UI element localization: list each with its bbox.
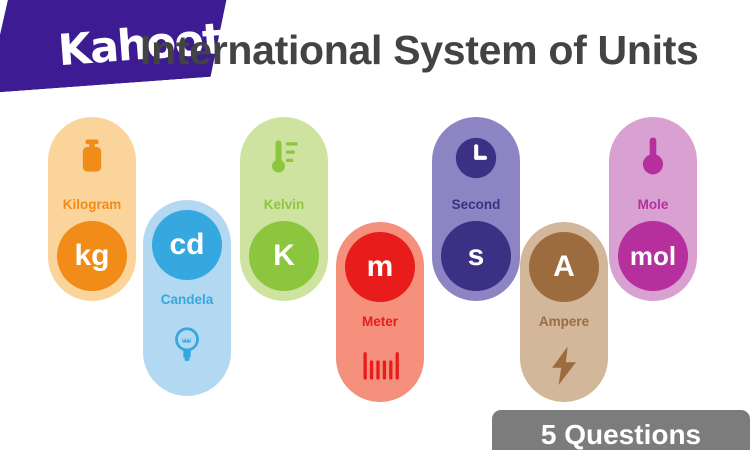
slide-canvas: Kahoot! International System of Units Ki… — [0, 0, 750, 450]
unit-symbol-disc: cd — [152, 210, 222, 280]
unit-capsule-second[interactable]: sSecond — [432, 117, 520, 301]
unit-name-label: Kilogram — [48, 197, 136, 213]
unit-name-label: Ampere — [520, 314, 608, 330]
unit-name-label: Candela — [143, 292, 231, 308]
unit-capsule-kilogram[interactable]: Kilogramkg — [48, 117, 136, 301]
unit-name-label: Kelvin — [240, 197, 328, 213]
page-title: International System of Units — [140, 24, 740, 76]
unit-symbol-disc: kg — [57, 221, 127, 291]
unit-symbol-disc: K — [249, 221, 319, 291]
unit-name-label: Mole — [609, 197, 697, 213]
flask-icon — [609, 125, 697, 187]
unit-capsule-candela[interactable]: cdCandela — [143, 200, 231, 396]
unit-symbol-disc: s — [441, 221, 511, 291]
unit-symbol-disc: mol — [618, 221, 688, 291]
unit-name-label: Meter — [336, 314, 424, 330]
unit-symbol-disc: A — [529, 232, 599, 302]
questions-count-badge: 5 Questions — [492, 410, 750, 450]
thermometer-icon — [240, 125, 328, 187]
unit-capsule-mole[interactable]: Molemol — [609, 117, 697, 301]
lightbulb-icon — [143, 312, 231, 374]
weight-icon — [48, 125, 136, 187]
clock-icon — [432, 121, 520, 195]
ruler-icon — [336, 334, 424, 396]
unit-symbol-disc: m — [345, 232, 415, 302]
unit-capsule-ampere[interactable]: AAmpere — [520, 222, 608, 402]
unit-name-label: Second — [432, 197, 520, 213]
lightning-bolt-icon — [520, 334, 608, 396]
unit-capsule-meter[interactable]: mMeter — [336, 222, 424, 402]
unit-capsule-kelvin[interactable]: KelvinK — [240, 117, 328, 301]
